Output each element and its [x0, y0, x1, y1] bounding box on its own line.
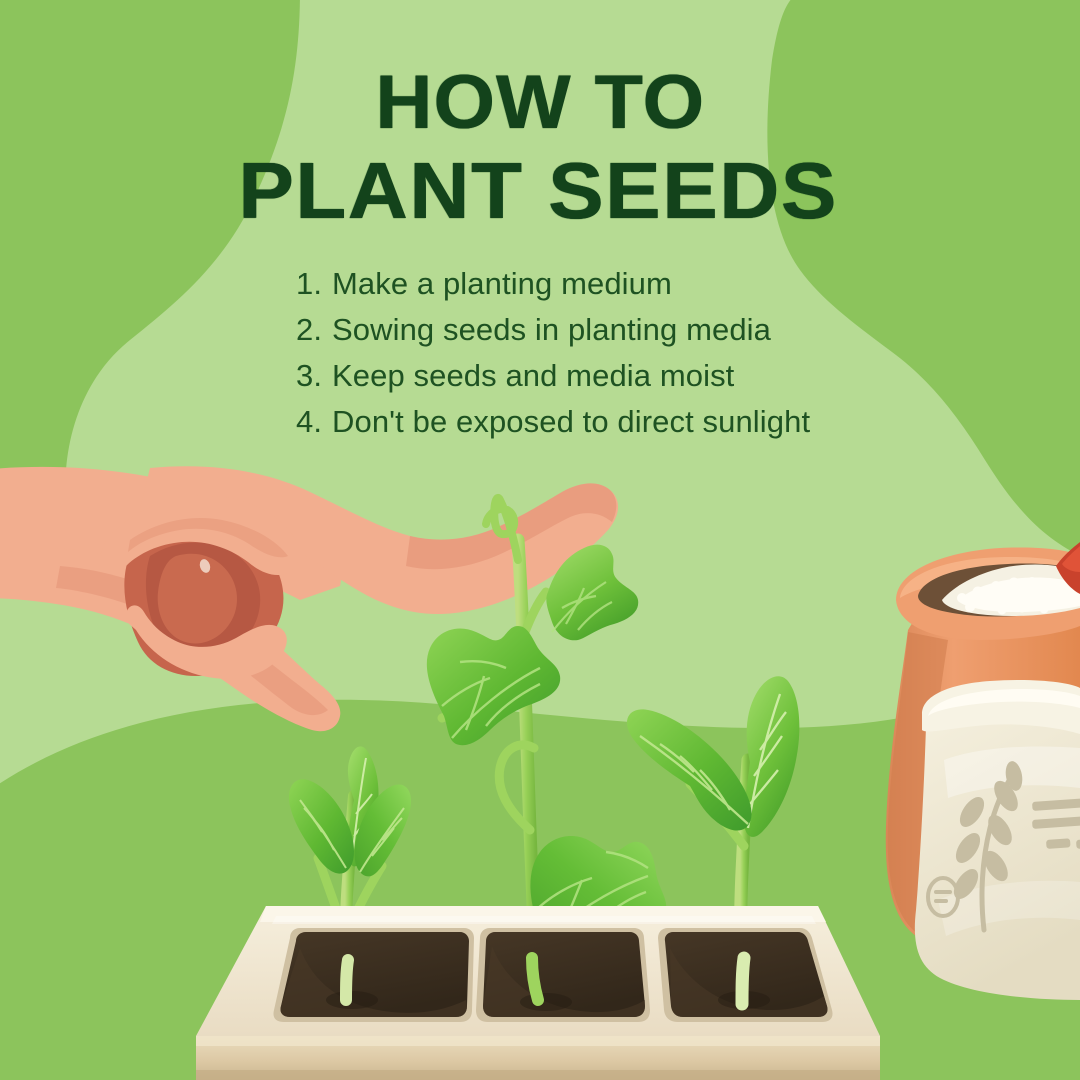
seed-packet-icon — [915, 680, 1080, 1000]
tray-cell-1 — [273, 928, 474, 1022]
illustration-layer — [0, 0, 1080, 1080]
poster-canvas: HOW TO PLANT SEEDS 1. Make a planting me… — [0, 0, 1080, 1080]
tray-cell-2 — [476, 928, 650, 1022]
vine-leaf-left-icon — [427, 626, 560, 745]
seed-sack-icon — [886, 542, 1080, 1000]
